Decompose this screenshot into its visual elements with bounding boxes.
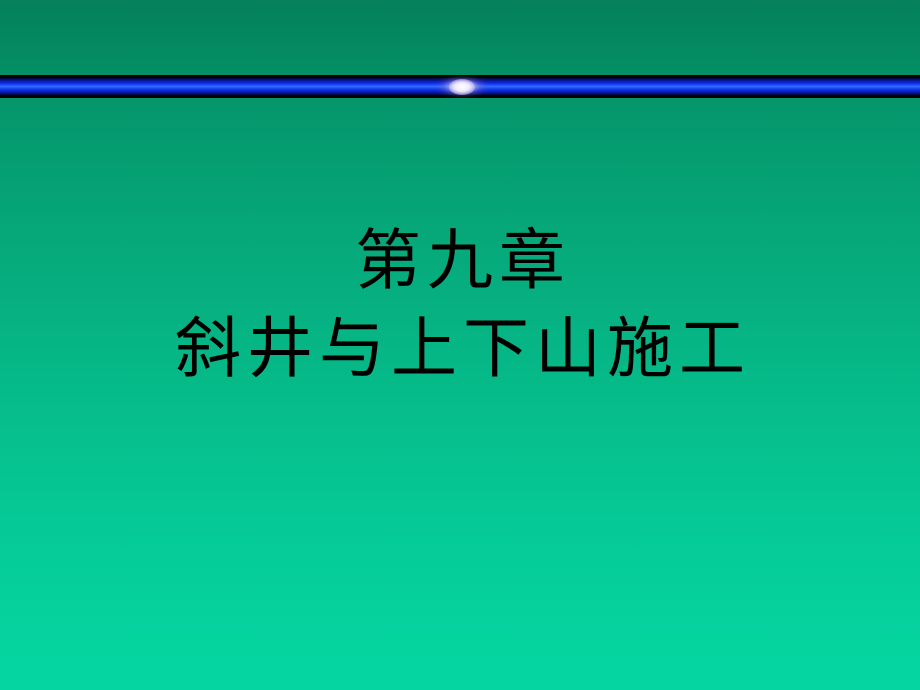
slide-title-block: 第九章 斜井与上下山施工 bbox=[0, 228, 920, 382]
slide-title-line-2: 斜井与上下山施工 bbox=[0, 316, 920, 382]
divider-blue-stripe bbox=[0, 78, 920, 95]
slide-title-line-1: 第九章 bbox=[0, 228, 920, 294]
divider-rule-bottom bbox=[0, 95, 920, 98]
decorative-divider-bar bbox=[0, 75, 920, 98]
presentation-slide: 第九章 斜井与上下山施工 bbox=[0, 0, 920, 690]
